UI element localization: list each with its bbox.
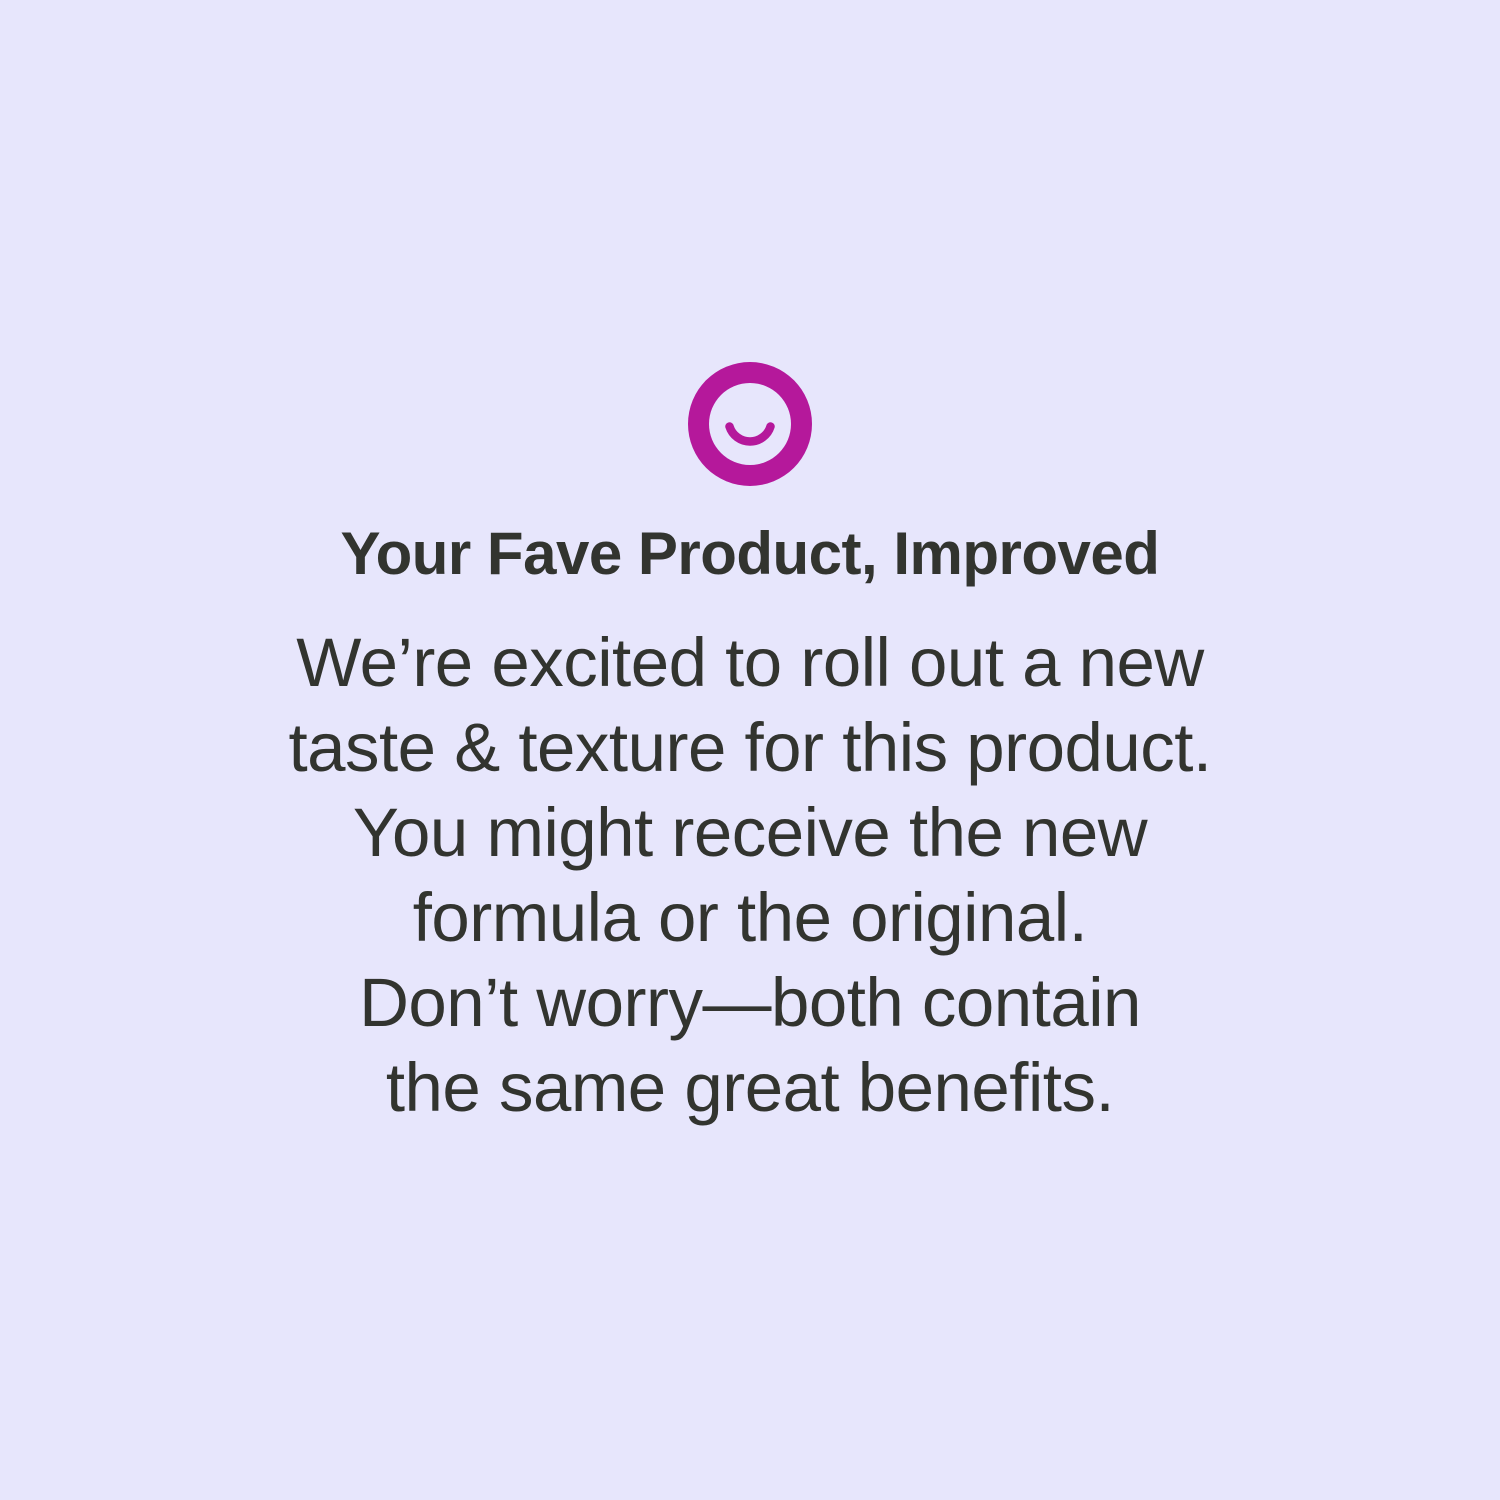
product-change-notice-card: Your Fave Product, Improved We’re excite… (0, 0, 1500, 1500)
body-line: the same great benefits. (120, 1045, 1380, 1130)
body-copy: We’re excited to roll out a new taste & … (120, 620, 1380, 1130)
body-line: Don’t worry—both contain (120, 960, 1380, 1045)
logo-inner-circle (709, 383, 791, 465)
smiley-face-logo (688, 362, 812, 486)
page-title: Your Fave Product, Improved (120, 522, 1380, 586)
body-line: We’re excited to roll out a new (120, 620, 1380, 705)
body-line: taste & texture for this product. (120, 705, 1380, 790)
body-line: formula or the original. (120, 875, 1380, 960)
body-line: You might receive the new (120, 790, 1380, 875)
